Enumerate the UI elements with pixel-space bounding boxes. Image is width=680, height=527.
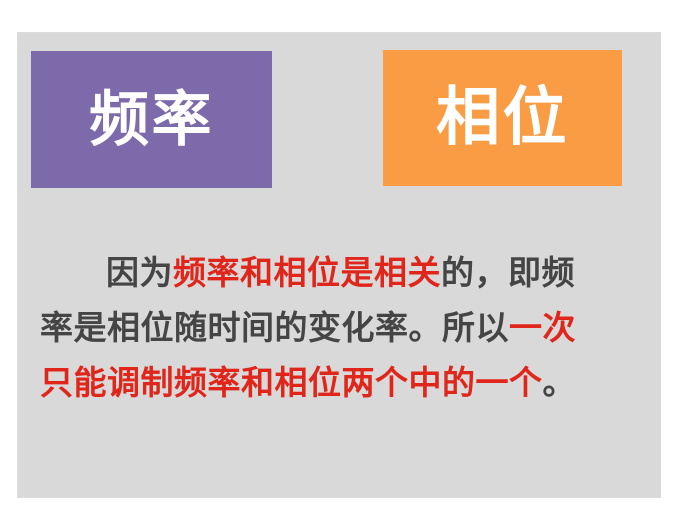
slide-canvas: 频率 相位 因为频率和相位是相关的，即频 率是相位随时间的变化率。所以一次 只能…	[0, 0, 680, 527]
body-paragraph: 因为频率和相位是相关的，即频 率是相位随时间的变化率。所以一次 只能调制频率和相…	[40, 245, 638, 410]
body-line-1: 因为频率和相位是相关的，即频	[40, 245, 638, 300]
label-card-phase: 相位	[383, 50, 622, 186]
body-segment-highlight: 频率和相位是相关	[173, 253, 441, 292]
body-segment: 。	[543, 363, 577, 402]
body-segment: 因为	[106, 253, 173, 292]
label-card-phase-text: 相位	[436, 86, 569, 150]
body-segment: 的，即频	[441, 253, 575, 292]
label-card-frequency-text: 频率	[89, 90, 214, 150]
body-line-3: 只能调制频率和相位两个中的一个。	[40, 355, 638, 410]
body-line-2: 率是相位随时间的变化率。所以一次	[40, 300, 638, 355]
body-segment-highlight: 只能调制频率和相位两个中的一个	[40, 363, 543, 402]
label-card-frequency: 频率	[31, 51, 272, 188]
body-segment: 率是相位随时间的变化率。所以	[40, 308, 509, 347]
body-segment-highlight: 一次	[509, 308, 576, 347]
slide-panel: 频率 相位 因为频率和相位是相关的，即频 率是相位随时间的变化率。所以一次 只能…	[18, 33, 660, 497]
